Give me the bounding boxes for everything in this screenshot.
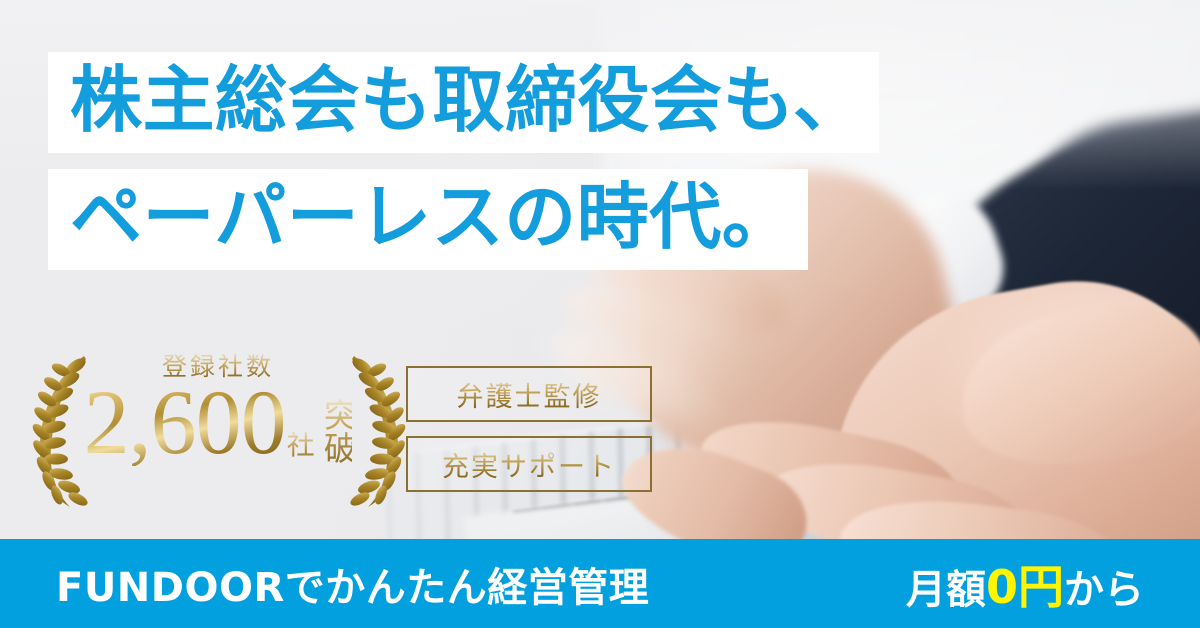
registration-badge: 登録社数 2,600 社 突破 [22,350,412,510]
footer-bar: FUNDOORでかんたん経営管理 月額0円から [0,539,1200,628]
price-prefix: 月額 [906,567,986,613]
price-value: 0円 [986,560,1064,614]
footer-price: 月額0円から [906,551,1144,617]
badge-number: 2,600 [84,378,286,466]
headline-line-2: ペーパーレスの時代。 [70,175,794,260]
headline: 株主総会も取締役会も、 ペーパーレスの時代。 [48,52,1200,270]
headline-line-1: 株主総会も取締役会も、 [70,58,865,143]
price-suffix: から [1064,567,1144,613]
badge-unit: 社 [287,432,315,466]
feature-list: 弁護士監修 充実サポート [406,366,652,492]
badge-content: 登録社数 2,600 社 突破 [100,354,336,506]
footer-tagline: FUNDOORでかんたん経営管理 [56,555,649,613]
feature-label: 充実サポート [442,445,616,484]
badge-figure-row: 2,600 社 突破 [100,378,336,466]
fundoor-ad-banner: 株主総会も取締役会も、 ペーパーレスの時代。 [0,0,1200,628]
laurel-wreath-right-icon [338,350,412,510]
feature-box-full-support: 充実サポート [406,436,652,492]
feature-label: 弁護士監修 [457,375,602,414]
headline-band-2: ペーパーレスの時代。 [48,169,808,270]
headline-band-1: 株主総会も取締役会も、 [48,52,879,153]
feature-box-lawyer-supervised: 弁護士監修 [406,366,652,422]
